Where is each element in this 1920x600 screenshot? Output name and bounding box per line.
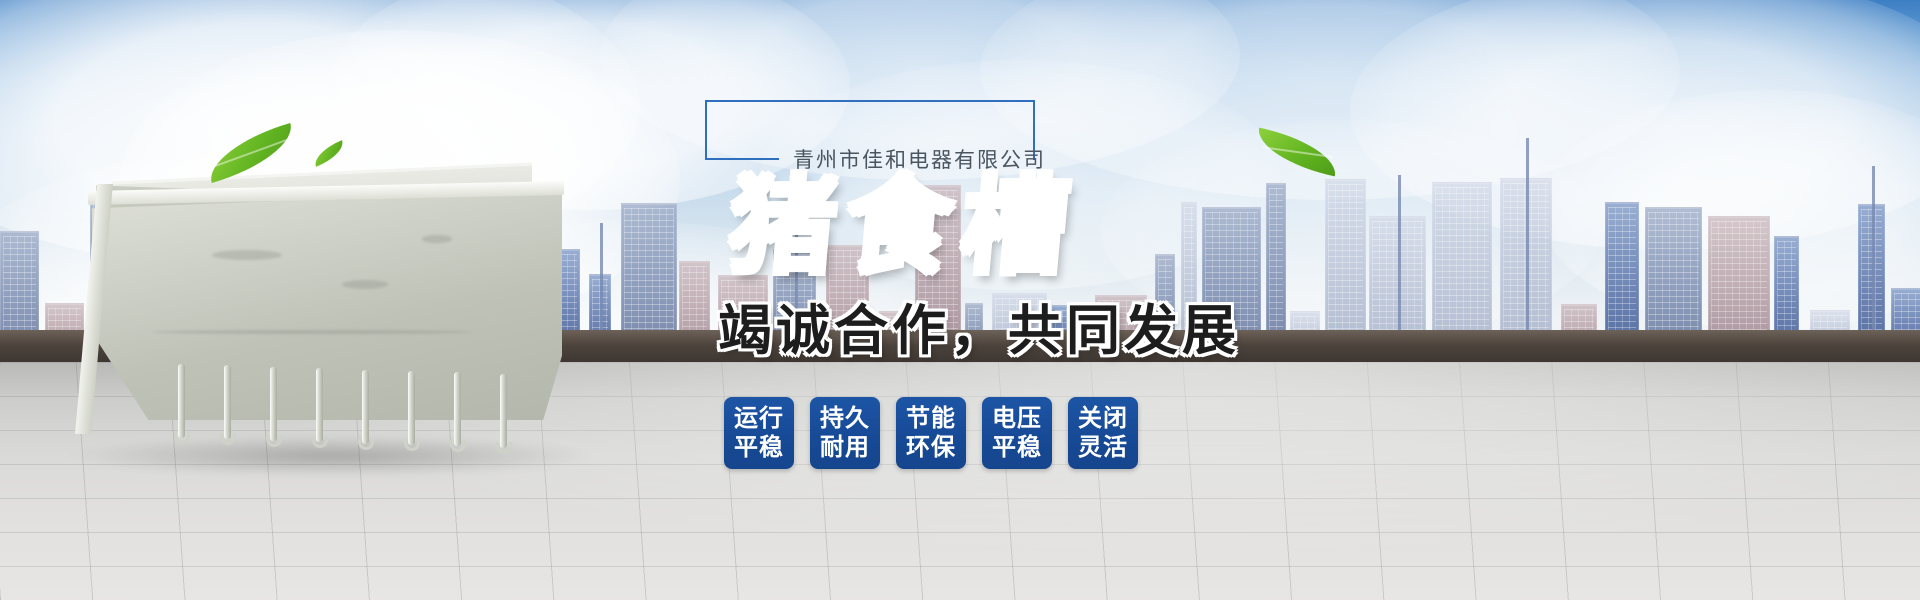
feature-badge-line2: 平稳 bbox=[992, 433, 1042, 462]
trough-front-panel bbox=[92, 190, 562, 420]
feature-badge-line1: 电压 bbox=[992, 404, 1042, 433]
trough-bar bbox=[408, 371, 415, 445]
trough-bar bbox=[224, 365, 231, 439]
banner-copy-block: 青州市佳和电器有限公司 猪食槽 竭诚合作，共同发展 运行平稳持久耐用节能环保电压… bbox=[700, 100, 1400, 469]
feature-badge-line1: 持久 bbox=[820, 404, 870, 433]
feature-badge[interactable]: 电压平稳 bbox=[982, 397, 1052, 469]
feature-badge-line1: 节能 bbox=[906, 404, 956, 433]
surface-scuff bbox=[342, 280, 388, 289]
feature-badge-list: 运行平稳持久耐用节能环保电压平稳关闭灵活 bbox=[724, 397, 1400, 469]
trough-bar bbox=[270, 367, 277, 441]
feature-badge-line2: 平稳 bbox=[734, 433, 784, 462]
surface-weld-line bbox=[152, 330, 472, 334]
trough-bar bbox=[362, 370, 369, 444]
promo-banner: 青州市佳和电器有限公司 猪食槽 竭诚合作，共同发展 运行平稳持久耐用节能环保电压… bbox=[0, 0, 1920, 600]
surface-scuff bbox=[212, 250, 282, 260]
trough-bar bbox=[178, 364, 185, 438]
feature-badge[interactable]: 关闭灵活 bbox=[1068, 397, 1138, 469]
feature-badge[interactable]: 运行平稳 bbox=[724, 397, 794, 469]
feature-badge[interactable]: 持久耐用 bbox=[810, 397, 880, 469]
company-name-frame: 青州市佳和电器有限公司 bbox=[705, 100, 1035, 160]
trough-bar bbox=[500, 374, 507, 448]
feature-badge-line2: 耐用 bbox=[820, 433, 870, 462]
trough-bar bbox=[454, 372, 461, 446]
skyline-spire bbox=[1526, 138, 1529, 355]
surface-scuff bbox=[422, 235, 452, 243]
skyline-spire bbox=[1872, 166, 1875, 355]
banner-subtitle: 竭诚合作，共同发展 bbox=[718, 286, 1400, 365]
product-photo-pig-feeder bbox=[60, 150, 600, 490]
page-title: 猪食槽 bbox=[725, 172, 1082, 280]
feature-badge-line1: 关闭 bbox=[1078, 404, 1128, 433]
product-shadow bbox=[70, 436, 590, 476]
feature-badge-line1: 运行 bbox=[734, 404, 784, 433]
feature-badge[interactable]: 节能环保 bbox=[896, 397, 966, 469]
feature-badge-line2: 灵活 bbox=[1078, 433, 1128, 462]
feature-badge-line2: 环保 bbox=[906, 433, 956, 462]
trough-bar bbox=[316, 368, 323, 442]
